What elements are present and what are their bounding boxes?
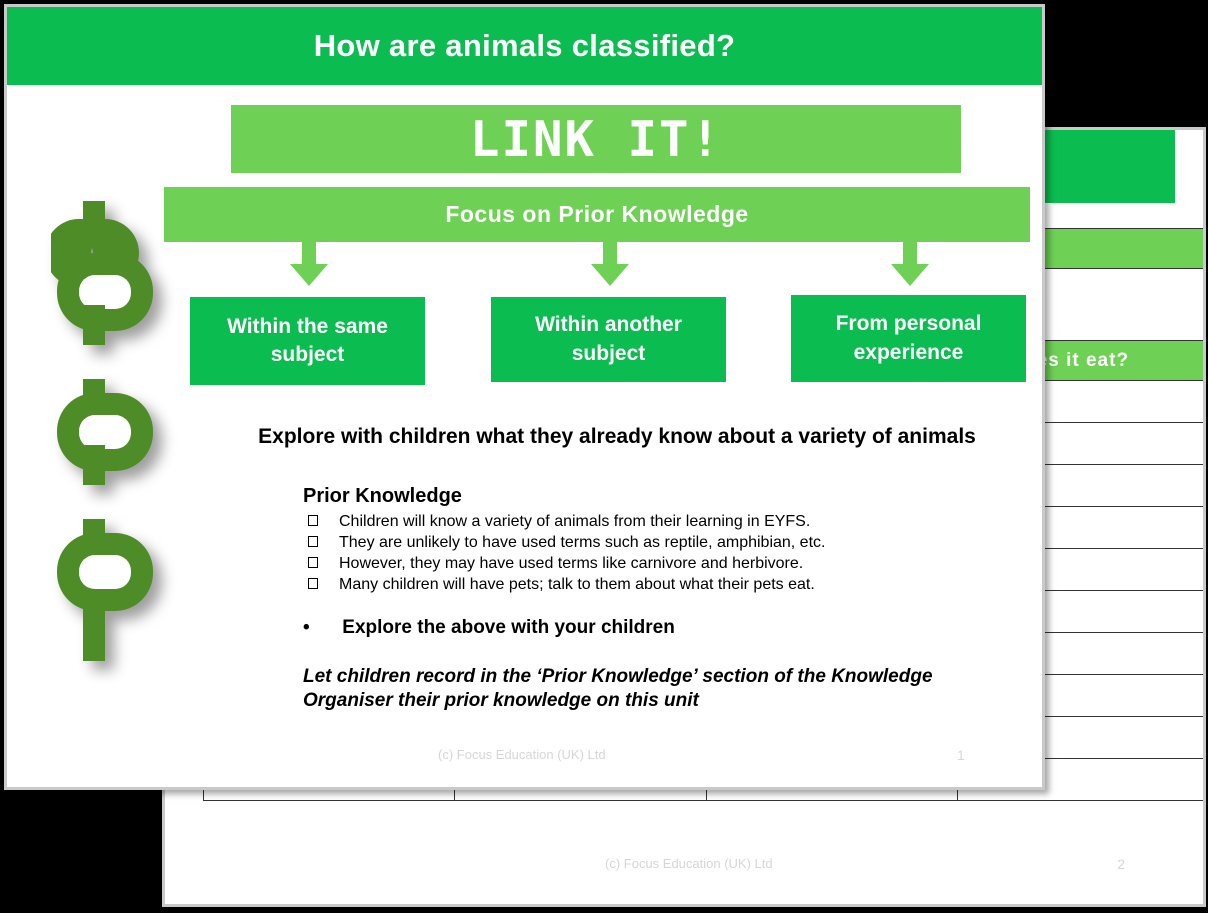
checkbox-icon [308, 536, 318, 547]
list-item: They are unlikely to have used terms suc… [303, 532, 963, 553]
source-box-personal-experience: From personal experience [791, 295, 1026, 382]
slide-stage: es it eat? (c) Focus Education (UK) Ltd … [0, 0, 1208, 913]
front-slide[interactable]: How are animals classified? LINK IT! Foc… [4, 4, 1045, 790]
source-box-same-subject: Within the same subject [190, 297, 425, 385]
arrow-down-icon-2 [591, 242, 629, 284]
explore-heading: Explore with children what they already … [227, 425, 1007, 449]
explore-above-label: Explore the above with your children [342, 617, 675, 638]
link-it-banner: LINK IT! [231, 105, 961, 173]
arrow-head [891, 264, 929, 286]
copyright-text: (c) Focus Education (UK) Ltd [605, 856, 773, 871]
prior-knowledge-heading: Prior Knowledge [303, 485, 963, 508]
arrow-down-icon-3 [891, 242, 929, 284]
explore-above-bullet: • Explore the above with your children [303, 617, 983, 639]
list-item: However, they may have used terms like c… [303, 553, 963, 574]
arrow-down-icon-1 [290, 242, 328, 284]
page-number: 1 [957, 747, 965, 763]
bullet-dot-icon: • [303, 617, 337, 639]
page-number: 2 [1117, 856, 1125, 872]
prior-knowledge-block: Prior Knowledge Children will know a var… [303, 485, 963, 595]
arrow-head [290, 264, 328, 286]
record-instruction: Let children record in the ‘Prior Knowle… [303, 665, 963, 713]
list-item-label: However, they may have used terms like c… [339, 555, 803, 572]
checkbox-icon [308, 578, 318, 589]
page-title: How are animals classified? [7, 7, 1042, 85]
chain-links-icon [51, 197, 159, 667]
list-item: Many children will have pets; talk to th… [303, 574, 963, 595]
background-slide-footer: (c) Focus Education (UK) Ltd 2 [165, 856, 1203, 876]
list-item-label: They are unlikely to have used terms suc… [339, 534, 825, 551]
list-item-label: Children will know a variety of animals … [339, 513, 810, 530]
list-item-label: Many children will have pets; talk to th… [339, 576, 815, 593]
prior-knowledge-list: Children will know a variety of animals … [303, 511, 963, 595]
copyright-text: (c) Focus Education (UK) Ltd [438, 747, 606, 762]
checkbox-icon [308, 557, 318, 568]
checkbox-icon [308, 515, 318, 526]
source-box-another-subject: Within another subject [491, 297, 726, 382]
focus-on-prior-knowledge-bar: Focus on Prior Knowledge [164, 187, 1030, 242]
arrow-head [591, 264, 629, 286]
list-item: Children will know a variety of animals … [303, 511, 963, 532]
